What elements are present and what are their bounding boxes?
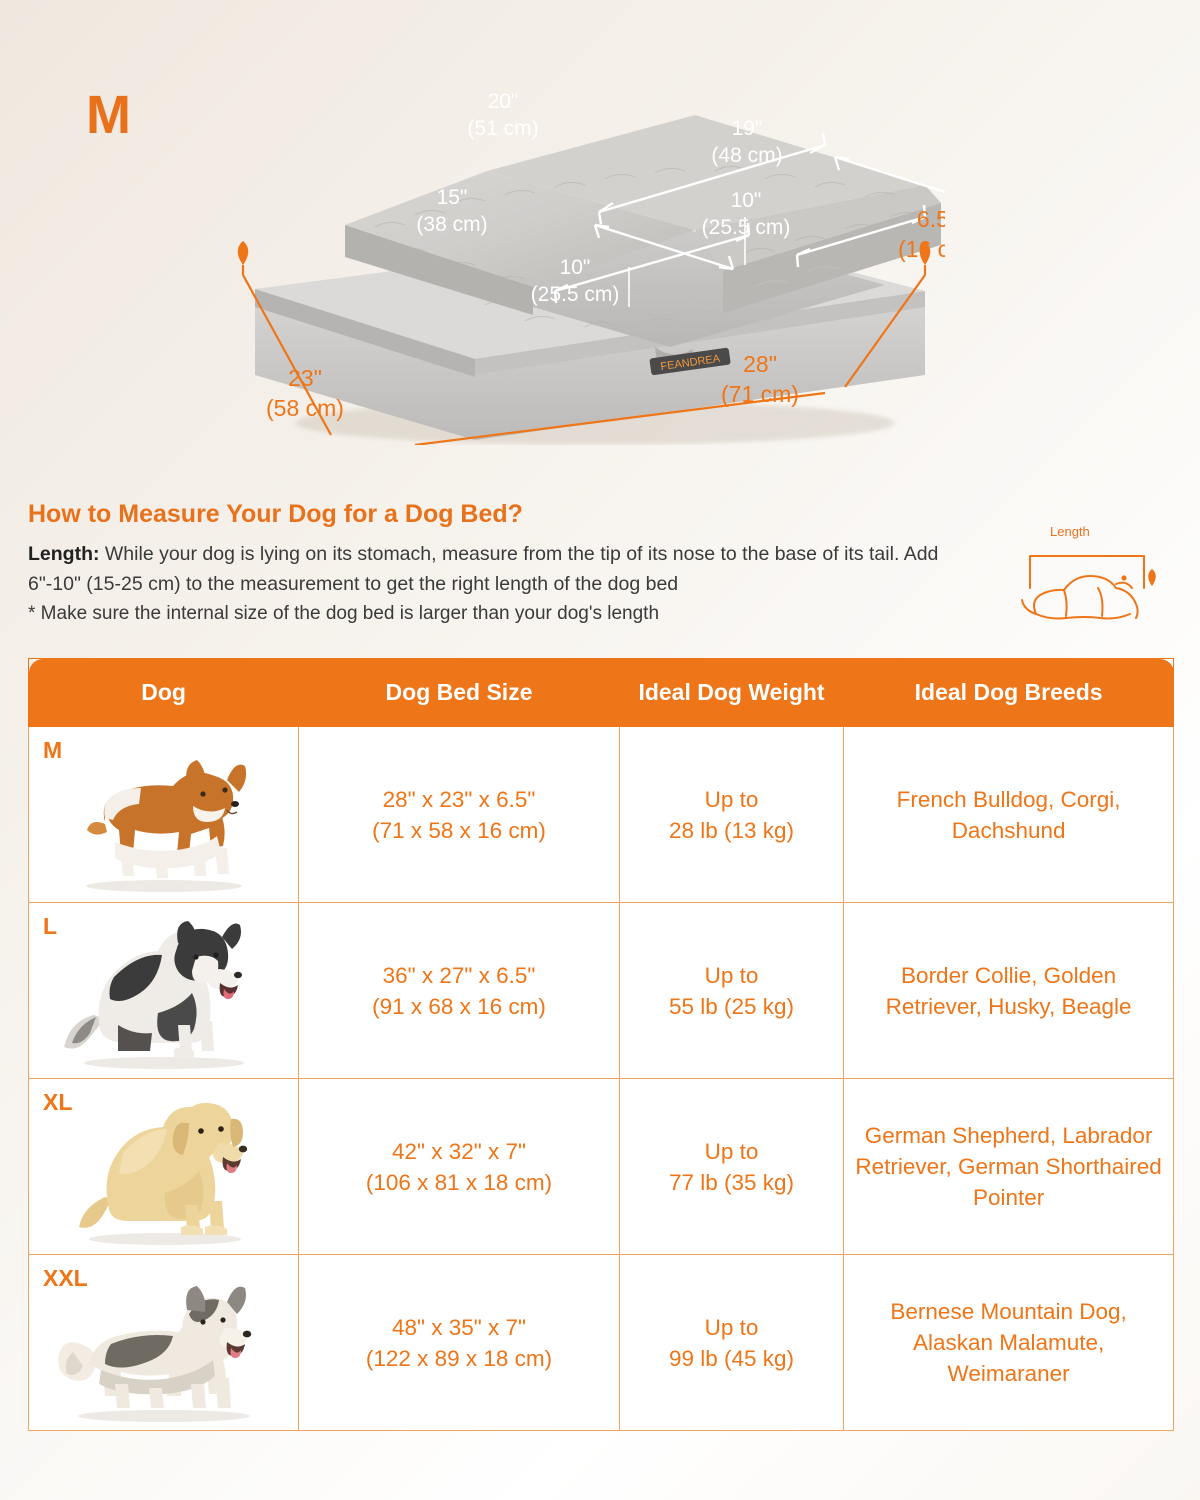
header-ideal-dog-weight: Ideal Dog Weight (619, 659, 843, 727)
measure-heading: How to Measure Your Dog for a Dog Bed? (28, 500, 1172, 529)
dim-label-15in: 15" (437, 186, 468, 209)
bed-size-in-m: 28" x 23" x 6.5" (305, 784, 613, 815)
bed-size-cm-xl: (106 x 81 x 18 cm) (305, 1167, 613, 1198)
weight-line1-xl: Up to (626, 1136, 837, 1167)
dog-cell-xxl: XXL (29, 1255, 299, 1431)
header-dog-bed-size: Dog Bed Size (299, 659, 620, 727)
weight-line1-m: Up to (626, 784, 837, 815)
dog-cell-l: L (29, 903, 299, 1079)
measure-section: How to Measure Your Dog for a Dog Bed? L… (28, 500, 1172, 629)
weight-line2-l: 55 lb (25 kg) (626, 991, 837, 1022)
dim-label-25-5cm-front: (25.5 cm) (531, 283, 620, 306)
dog-image-border-collie (29, 903, 298, 1078)
bed-size-in-xl: 42" x 32" x 7" (305, 1136, 613, 1167)
bed-size-in-l: 36" x 27" x 6.5" (305, 960, 613, 991)
dim-label-28in: 28" (743, 351, 777, 377)
dim-label-38cm: (38 cm) (416, 213, 487, 236)
bed-size-cell-m: 28" x 23" x 6.5" (71 x 58 x 16 cm) (299, 727, 620, 903)
bed-size-cm-m: (71 x 58 x 16 cm) (305, 815, 613, 846)
weight-line2-m: 28 lb (13 kg) (626, 815, 837, 846)
bed-size-in-xxl: 48" x 35" x 7" (305, 1312, 613, 1343)
dim-label-71cm: (71 cm) (721, 381, 799, 407)
breeds-cell-xxl: Bernese Mountain Dog, Alaskan Malamute, … (844, 1255, 1174, 1431)
dim-label-10in-front: 10" (560, 256, 591, 279)
weight-line2-xxl: 99 lb (45 kg) (626, 1343, 837, 1374)
weight-cell-xl: Up to 77 lb (35 kg) (619, 1079, 843, 1255)
measure-body: Length: While your dog is lying on its s… (28, 539, 978, 599)
table-row: XXL (29, 1255, 1174, 1431)
size-table-wrapper: Dog Dog Bed Size Ideal Dog Weight Ideal … (28, 658, 1174, 1431)
dim-label-51cm: (51 cm) (467, 117, 538, 140)
weight-line1-xxl: Up to (626, 1312, 837, 1343)
weight-cell-l: Up to 55 lb (25 kg) (619, 903, 843, 1079)
header-ideal-dog-breeds: Ideal Dog Breeds (844, 659, 1174, 727)
weight-cell-xxl: Up to 99 lb (45 kg) (619, 1255, 843, 1431)
dog-image-labrador (29, 1079, 298, 1254)
bed-size-cell-xxl: 48" x 35" x 7" (122 x 89 x 18 cm) (299, 1255, 620, 1431)
dim-label-6-5in: 6.5" (917, 206, 945, 232)
bed-size-cell-l: 36" x 27" x 6.5" (91 x 68 x 16 cm) (299, 903, 620, 1079)
dog-bed-illustration: FEANDREA (225, 75, 945, 445)
table-row: L (29, 903, 1174, 1079)
dog-length-diagram: Length (1012, 528, 1162, 638)
dog-cell-m: M (29, 727, 299, 903)
hero-section: M (0, 0, 1200, 490)
header-dog: Dog (29, 659, 299, 727)
bed-size-cm-l: (91 x 68 x 16 cm) (305, 991, 613, 1022)
diagram-length-label: Length (1050, 524, 1090, 539)
dim-label-23in: 23" (288, 365, 322, 391)
dim-label-58cm: (58 cm) (266, 395, 344, 421)
weight-cell-m: Up to 28 lb (13 kg) (619, 727, 843, 903)
dim-label-19in: 19" (732, 117, 763, 140)
hero-size-badge: M (86, 84, 132, 146)
bed-size-cm-xxl: (122 x 89 x 18 cm) (305, 1343, 613, 1374)
dim-label-10in-right: 10" (731, 189, 762, 212)
measure-body-text: While your dog is lying on its stomach, … (28, 543, 938, 595)
weight-line2-xl: 77 lb (35 kg) (626, 1167, 837, 1198)
breeds-cell-xl: German Shepherd, Labrador Retriever, Ger… (844, 1079, 1174, 1255)
bed-size-cell-xl: 42" x 32" x 7" (106 x 81 x 18 cm) (299, 1079, 620, 1255)
dim-label-48cm: (48 cm) (711, 144, 782, 167)
size-table: Dog Dog Bed Size Ideal Dog Weight Ideal … (28, 658, 1174, 1431)
dim-label-16cm: (16 cm) (898, 236, 945, 262)
weight-line1-l: Up to (626, 960, 837, 991)
measure-note: * Make sure the internal size of the dog… (28, 599, 978, 629)
table-row: XL (29, 1079, 1174, 1255)
dog-cell-xl: XL (29, 1079, 299, 1255)
dim-label-25-5cm-right: (25.5 cm) (702, 216, 791, 239)
breeds-cell-l: Border Collie, Golden Retriever, Husky, … (844, 903, 1174, 1079)
table-row: M (29, 727, 1174, 903)
dog-image-malamute (29, 1255, 298, 1430)
table-header-row: Dog Dog Bed Size Ideal Dog Weight Ideal … (29, 659, 1174, 727)
breeds-cell-m: French Bulldog, Corgi, Dachshund (844, 727, 1174, 903)
dog-image-corgi (29, 727, 298, 902)
measure-length-label: Length: (28, 543, 99, 565)
dim-label-20in: 20" (488, 90, 519, 113)
